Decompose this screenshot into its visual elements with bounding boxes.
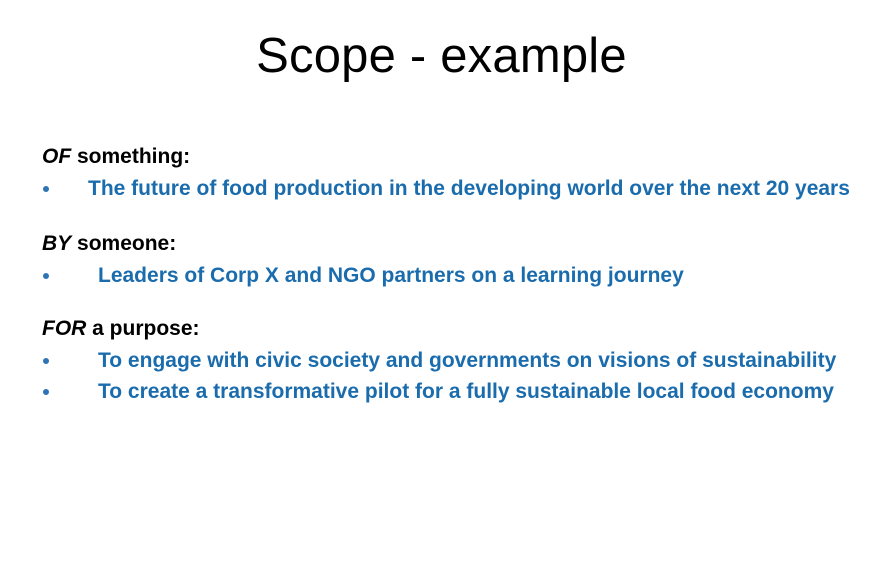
list-item: To create a transformative pilot for a f… [40,377,860,407]
bullet-text: To engage with civic society and governm… [98,346,860,376]
group-heading-of: OF something: [42,143,860,170]
list-item: Leaders of Corp X and NGO partners on a … [40,261,860,291]
bullet-text: Leaders of Corp X and NGO partners on a … [98,261,860,291]
group-keyword-for: FOR [42,317,86,340]
bullet-dot-icon [43,186,49,192]
slide-canvas: Scope - example OF something: The future… [0,0,883,561]
scope-group-for: FOR a purpose: To engage with civic soci… [40,315,860,407]
bullet-text: To create a transformative pilot for a f… [98,377,860,407]
group-heading-rest-of: something: [71,145,190,168]
group-heading-for: FOR a purpose: [42,315,860,342]
group-heading-rest-for: a purpose: [86,317,199,340]
slide-body: OF something: The future of food product… [40,143,860,408]
page-title: Scope - example [0,27,883,85]
group-heading-rest-by: someone: [71,232,176,255]
list-item: To engage with civic society and governm… [40,346,860,376]
bullet-dot-icon [43,273,49,279]
scope-group-of: OF something: The future of food product… [40,143,860,204]
group-keyword-by: BY [42,232,71,255]
group-keyword-of: OF [42,145,71,168]
bullet-dot-icon [43,358,49,364]
bullet-list-of: The future of food production in the dev… [40,174,860,204]
group-heading-by: BY someone: [42,230,860,257]
bullet-list-for: To engage with civic society and governm… [40,346,860,407]
bullet-text: The future of food production in the dev… [88,174,860,204]
bullet-list-by: Leaders of Corp X and NGO partners on a … [40,261,860,291]
scope-group-by: BY someone: Leaders of Corp X and NGO pa… [40,230,860,291]
list-item: The future of food production in the dev… [40,174,860,204]
bullet-dot-icon [43,389,49,395]
